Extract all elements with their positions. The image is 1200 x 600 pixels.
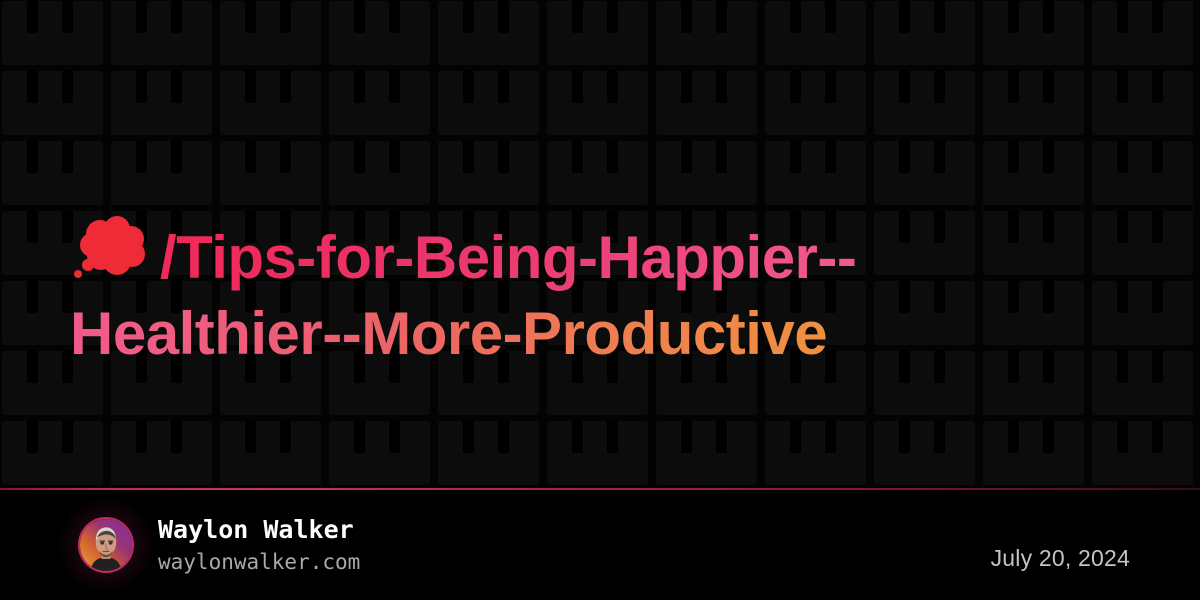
page-title: /Tips-for-Being-Happier--Healthier--More… [70, 224, 856, 367]
avatar-wrap [78, 517, 134, 573]
footer-bar: Waylon Walker waylonwalker.com July 20, … [0, 490, 1200, 600]
post-date: July 20, 2024 [991, 519, 1130, 572]
author-info: Waylon Walker waylonwalker.com [158, 515, 360, 575]
title-line-wrap: /Tips-for-Being-Happier--Healthier--More… [70, 214, 1070, 372]
social-share-card: /Tips-for-Being-Happier--Healthier--More… [0, 0, 1200, 600]
author-name: Waylon Walker [158, 515, 360, 545]
title-block: /Tips-for-Being-Happier--Healthier--More… [70, 214, 1130, 372]
avatar[interactable] [78, 517, 134, 573]
author-site[interactable]: waylonwalker.com [158, 549, 360, 575]
thought-balloon-icon [70, 214, 154, 284]
